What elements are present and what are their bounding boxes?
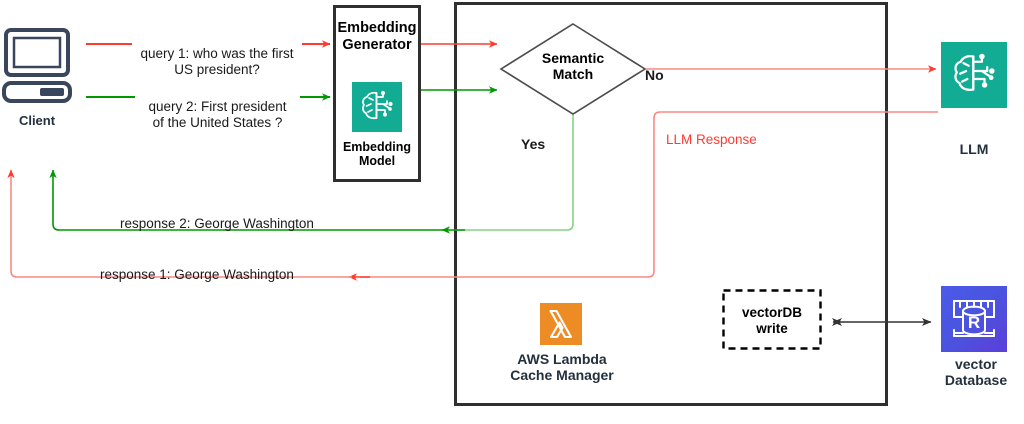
llm-icon-tile	[941, 42, 1007, 108]
edge-label-response2: response 2: George Washington	[120, 200, 345, 232]
embedding-generator-title: Embedding Generator	[330, 20, 424, 53]
aws-rds-database-icon: R	[941, 286, 1007, 352]
aws-lambda-cache-manager-label: AWS Lambda Cache Manager	[497, 351, 627, 383]
embedding-model-icon	[352, 82, 402, 132]
vector-database-label: vector Database	[936, 356, 1016, 388]
brain-circuit-icon	[941, 42, 1007, 108]
edge-label-yes: Yes	[521, 119, 567, 153]
svg-text:R: R	[968, 313, 980, 332]
brain-circuit-icon	[352, 82, 402, 132]
architecture-diagram: Client Embedding Generator	[0, 0, 1024, 424]
aws-lambda-icon	[540, 303, 582, 345]
edge-llm-response	[360, 112, 938, 277]
edge-label-llm-response: LLM Response	[666, 116, 796, 148]
client-label: Client	[0, 114, 74, 129]
aws-lambda-icon-tile	[540, 303, 582, 345]
llm-label: LLM	[938, 141, 1010, 157]
embedding-model-label: Embedding Model	[332, 140, 422, 169]
vectordb-write-label: vectorDB write	[724, 305, 820, 336]
semantic-match-label: Semantic Match	[523, 50, 623, 82]
edge-label-query2: query 2: First president of the United S…	[135, 83, 300, 132]
edge-label-response1: response 1: George Washington	[100, 251, 325, 283]
desktop-computer-icon	[4, 30, 70, 101]
vector-database-icon-tile: R	[941, 286, 1007, 352]
edge-label-query1: query 1: who was the first US president?	[132, 30, 302, 79]
edge-label-no: No	[645, 50, 685, 84]
